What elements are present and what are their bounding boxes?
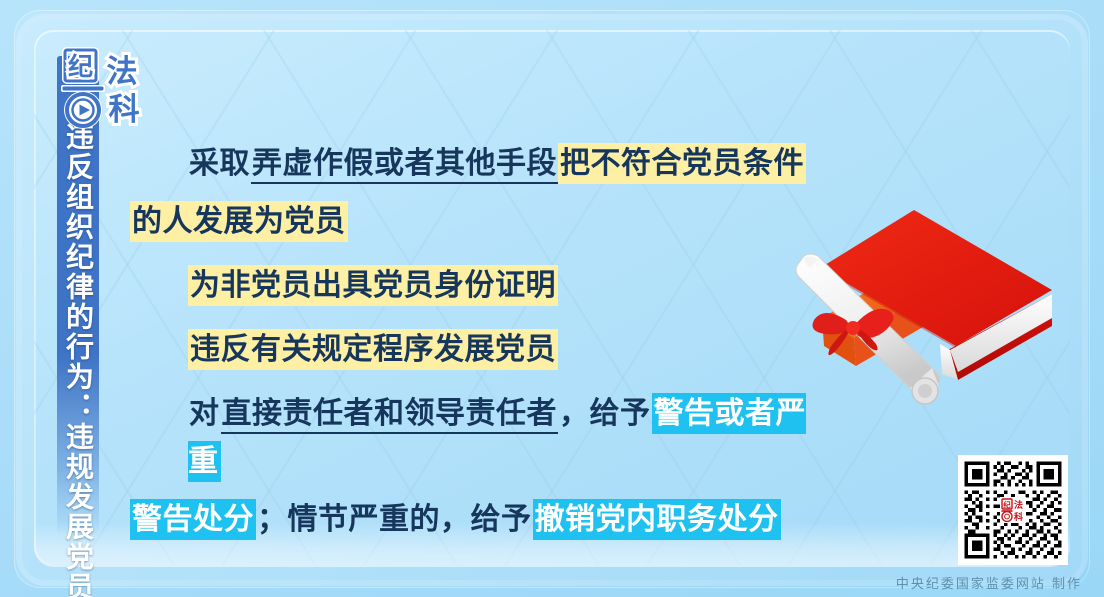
- illustration-svg: [790, 198, 1055, 440]
- svg-text:纪: 纪: [68, 52, 93, 81]
- segment-underline: 弄虚作假或者其他手段: [251, 144, 558, 184]
- book-and-diploma-illustration: [790, 198, 1055, 440]
- qr-center-logo-svg: 纪 法 科: [1001, 498, 1025, 522]
- brand-logo[interactable]: 纪 纪 法 法 科 科: [54, 44, 154, 132]
- svg-text:纪: 纪: [1003, 500, 1011, 510]
- text-line-5: 对直接责任者和领导责任者，给予警告或者严重: [188, 390, 820, 486]
- brand-logo-svg: 纪 纪 法 法 科 科: [54, 44, 154, 132]
- segment-plain: ；情节严重的，给予: [256, 500, 533, 539]
- segment-highlight-cyan: 警告处分: [130, 499, 256, 540]
- poster-canvas: 违反组织纪律的行为：违规发展党员 纪 纪 法 法: [0, 0, 1104, 597]
- segment-plain: ，给予: [558, 394, 652, 433]
- segment-highlight-cyan: 撤销党内职务处分: [533, 499, 781, 540]
- text-line-4: 违反有关规定程序发展党员: [188, 326, 820, 374]
- text-line-1: 采取弄虚作假或者其他手段把不符合党员条件: [188, 140, 820, 188]
- segment-highlight-yellow: 为非党员出具党员身份证明: [188, 265, 558, 306]
- qr-code[interactable]: 纪 法 科: [958, 455, 1068, 565]
- vertical-banner-title: 违反组织纪律的行为：违规发展党员: [58, 122, 98, 542]
- svg-text:科: 科: [109, 92, 140, 128]
- qr-center-logo: 纪 法 科: [1000, 497, 1026, 523]
- footer-credit: 中央纪委国家监委网站 制作: [896, 573, 1082, 592]
- segment-highlight-yellow: 把不符合党员条件: [558, 143, 806, 184]
- text-line-6: 警告处分；情节严重的，给予撤销党内职务处分: [130, 496, 820, 544]
- svg-text:法: 法: [107, 54, 138, 90]
- segment-underline: 直接责任者和领导责任者: [221, 394, 559, 434]
- segment-plain: 采取: [188, 144, 251, 183]
- regulation-text-block: 采取弄虚作假或者其他手段把不符合党员条件 的人发展为党员 为非党员出具党员身份证…: [130, 140, 820, 544]
- segment-plain: 对: [188, 394, 221, 433]
- svg-text:科: 科: [1014, 511, 1023, 522]
- segment-highlight-yellow: 的人发展为党员: [130, 201, 348, 242]
- svg-text:法: 法: [1014, 499, 1023, 511]
- text-line-2: 的人发展为党员: [130, 198, 820, 246]
- text-line-3: 为非党员出具党员身份证明: [188, 262, 820, 310]
- segment-highlight-yellow: 违反有关规定程序发展党员: [188, 329, 558, 370]
